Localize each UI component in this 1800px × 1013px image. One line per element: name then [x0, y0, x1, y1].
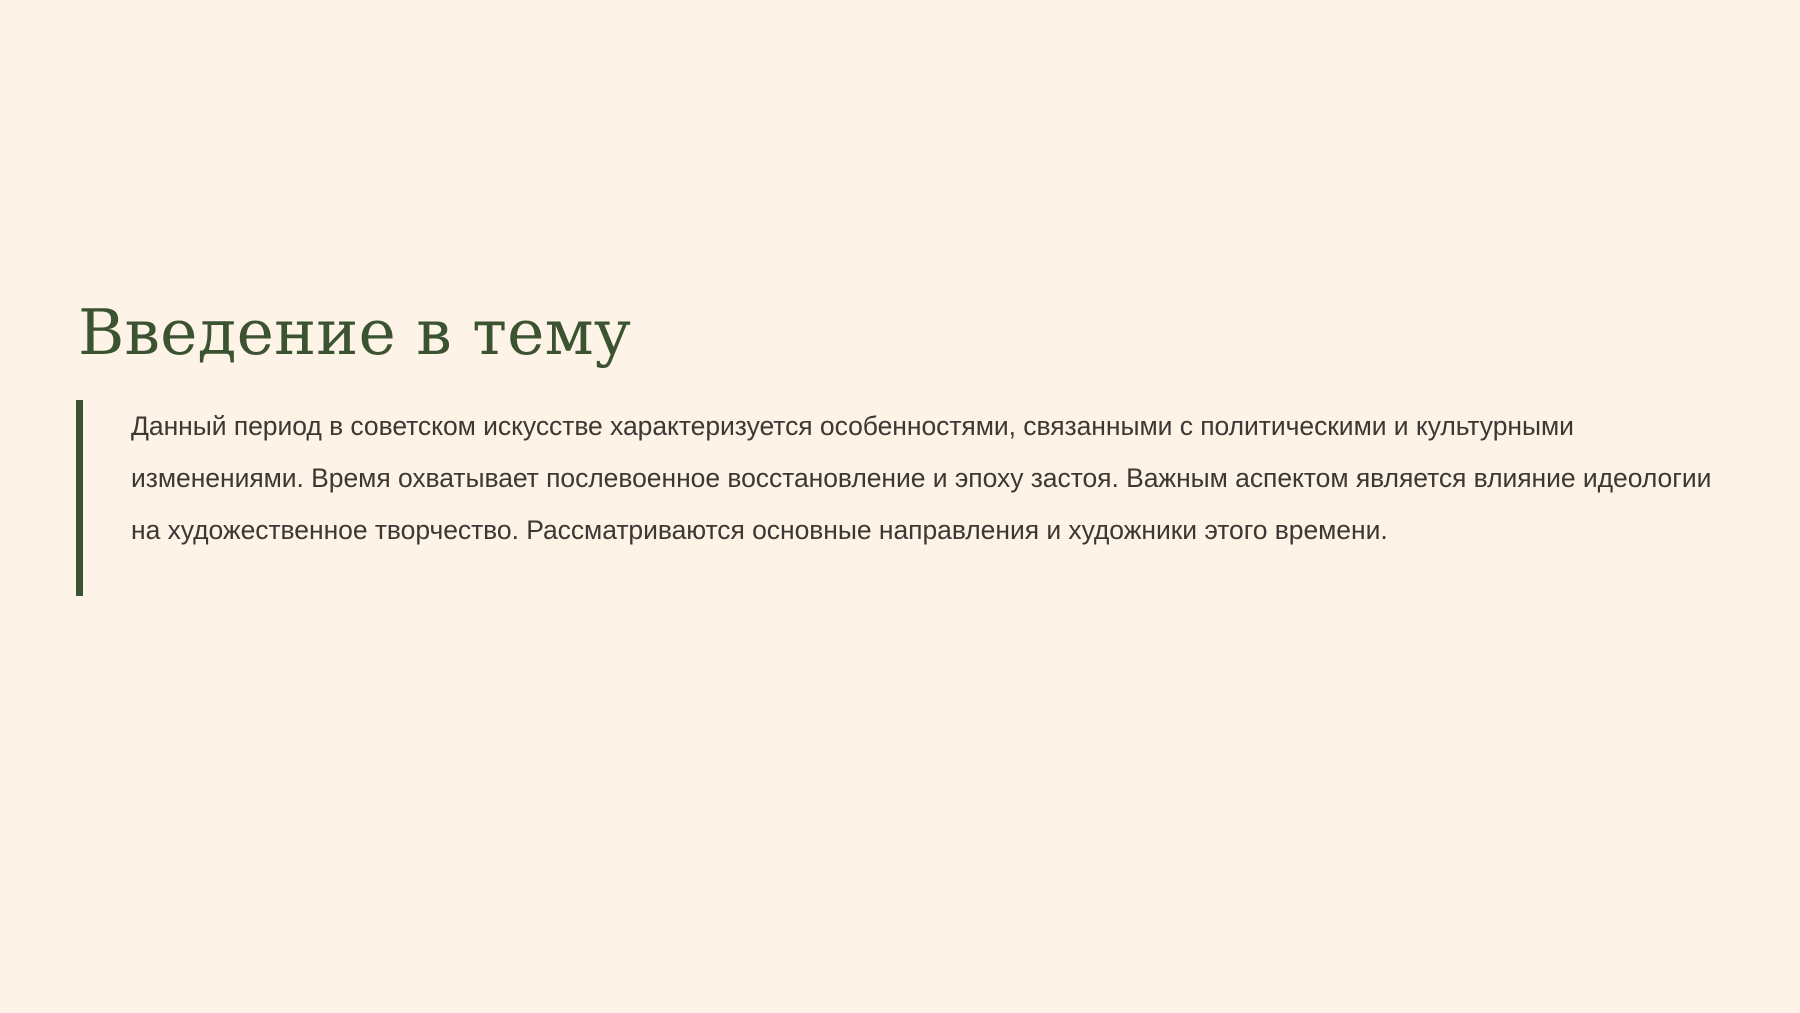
slide-content-block: Введение в тему Данный период в советско…	[76, 296, 1736, 596]
body-quote-block: Данный период в советском искусстве хара…	[76, 400, 1736, 596]
accent-bar-decoration	[76, 400, 83, 596]
page-title: Введение в тему	[76, 296, 1736, 369]
slide-root: Введение в тему Данный период в советско…	[0, 0, 1800, 1013]
body-paragraph: Данный период в советском искусстве хара…	[131, 400, 1731, 556]
